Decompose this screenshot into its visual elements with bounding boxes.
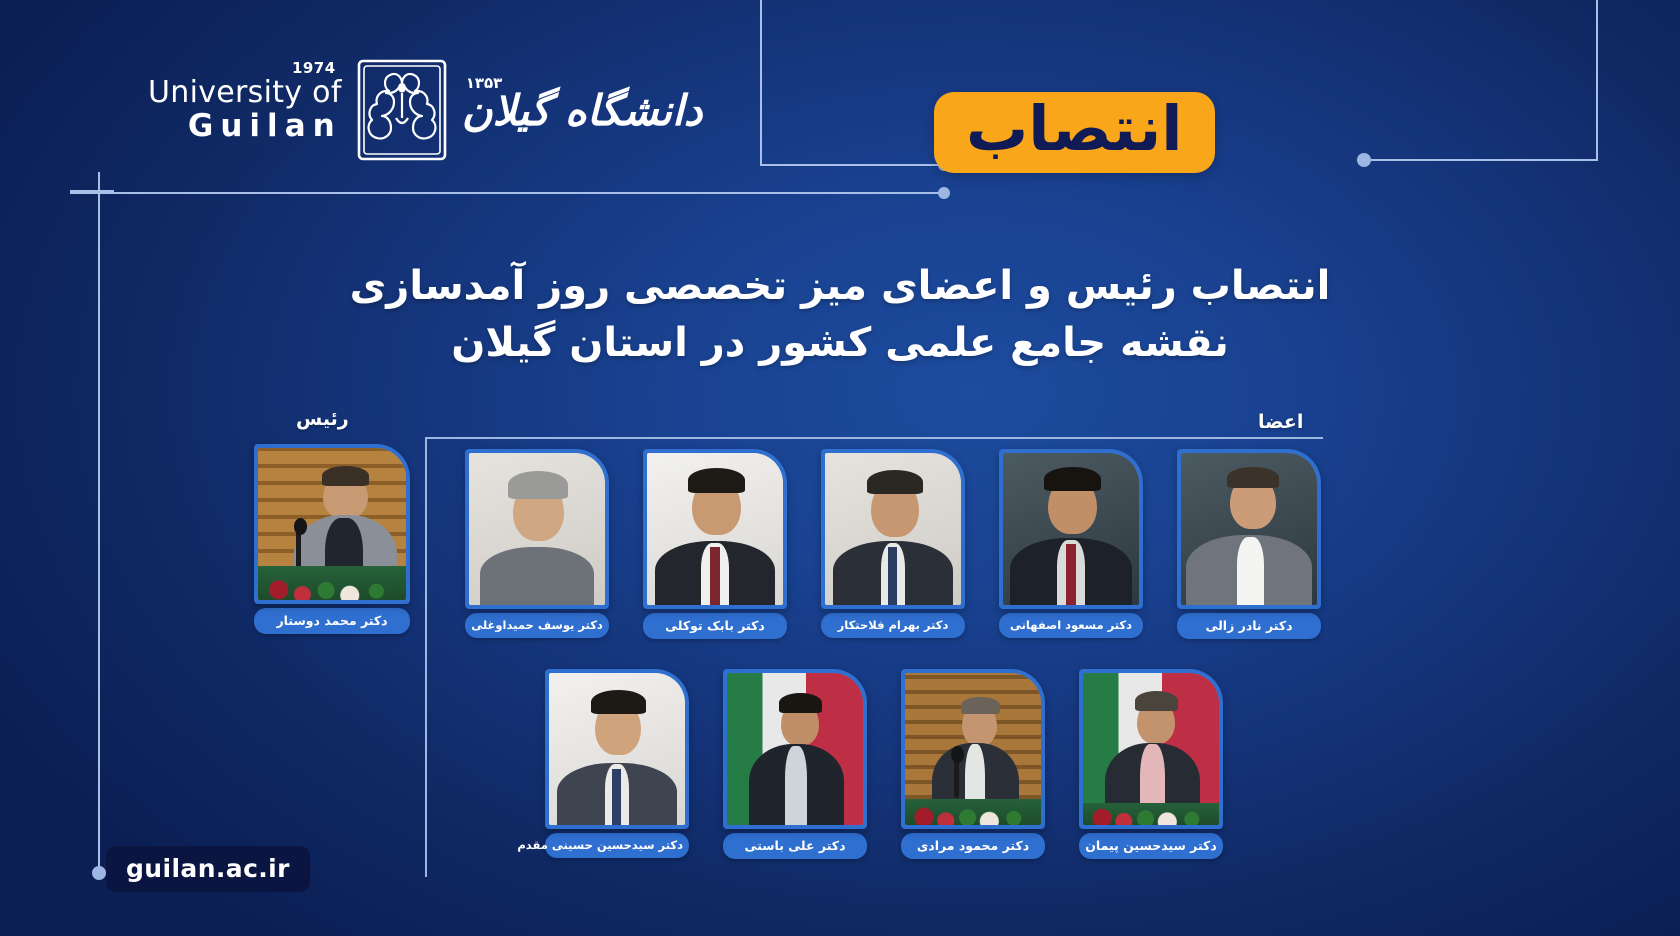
member-name: دکتر بابک توکلی	[643, 613, 787, 639]
member-photo-frame	[465, 449, 609, 609]
member-name: دکتر بهرام فلاحتکار	[821, 613, 965, 638]
decor-line-left-horizontal	[70, 190, 114, 192]
member-photo-frame	[545, 669, 689, 829]
logo-name-fa: دانشگاه گیلان	[462, 86, 703, 135]
page-title-line-2: نقشه جامع علمی کشور در استان گیلان	[0, 315, 1680, 372]
member-photo-frame	[901, 669, 1045, 829]
member-card[interactable]: دکتر بابک توکلی	[643, 449, 787, 639]
appointment-banner-label: انتصاب	[966, 96, 1183, 161]
decor-line-top-horizontal-1	[760, 164, 946, 166]
section-label-members: اعضا	[1258, 411, 1303, 433]
member-photo-frame	[1079, 669, 1223, 829]
decor-dot-bottom-left	[92, 866, 106, 880]
appointment-poster: 1974 University of Guilan ۱۳۵۳ دانشگاه گ…	[0, 0, 1680, 936]
member-photo	[1083, 673, 1219, 825]
decor-line-top-horizontal-2	[70, 192, 946, 194]
member-photo	[825, 453, 961, 605]
member-name: دکتر محمود مرادی	[901, 833, 1045, 859]
decor-dot-top-right	[1357, 153, 1371, 167]
member-name: دکتر سیدحسین پیمان	[1079, 833, 1223, 859]
chair-card[interactable]: دکتر محمد دوستار	[254, 444, 410, 634]
page-title-line-1: انتصاب رئیس و اعضای میز تخصصی روز آمدساز…	[0, 258, 1680, 315]
website-badge[interactable]: guilan.ac.ir	[106, 846, 310, 892]
appointment-banner: انتصاب	[934, 92, 1215, 173]
member-name: دکتر یوسف حمیداوغلی	[465, 613, 609, 638]
members-bracket-horizontal	[425, 437, 1323, 439]
chair-photo-frame	[254, 444, 410, 604]
member-photo	[469, 453, 605, 605]
member-photo	[1181, 453, 1317, 605]
member-photo-frame	[723, 669, 867, 829]
member-photo	[647, 453, 783, 605]
members-bracket-vertical	[425, 437, 427, 877]
member-name: دکتر مسعود اصفهانی	[999, 613, 1143, 638]
member-card[interactable]: دکتر نادر زالی	[1177, 449, 1321, 639]
member-photo	[1003, 453, 1139, 605]
chair-photo	[258, 448, 406, 600]
member-card[interactable]: دکتر علی باستی	[723, 669, 867, 859]
logo-year-fa: ۱۳۵۳	[466, 74, 503, 92]
member-photo-frame	[821, 449, 965, 609]
member-photo-frame	[999, 449, 1143, 609]
logo-year-en: 1974	[292, 61, 336, 76]
member-name: دکتر سیدحسین حسینی مقدم	[545, 833, 689, 858]
logo-persian-text: ۱۳۵۳ دانشگاه گیلان	[462, 86, 703, 135]
member-photo	[727, 673, 863, 825]
decor-line-right-vertical	[1596, 0, 1598, 160]
logo-english-text: 1974 University of Guilan	[148, 78, 342, 142]
logo-name-en-line1: University of	[148, 78, 342, 108]
chair-name: دکتر محمد دوستار	[254, 608, 410, 634]
decor-dot-top-2	[938, 187, 950, 199]
member-name: دکتر علی باستی	[723, 833, 867, 859]
member-card[interactable]: دکتر محمود مرادی	[901, 669, 1045, 859]
university-logo: 1974 University of Guilan ۱۳۵۳ دانشگاه گ…	[148, 58, 702, 162]
decor-line-right-horizontal	[1365, 159, 1598, 161]
member-photo	[549, 673, 685, 825]
member-card[interactable]: دکتر یوسف حمیداوغلی	[465, 449, 609, 638]
member-photo-frame	[1177, 449, 1321, 609]
logo-name-en-line2: Guilan	[148, 111, 342, 142]
member-photo-frame	[643, 449, 787, 609]
member-card[interactable]: دکتر بهرام فلاحتکار	[821, 449, 965, 638]
member-name: دکتر نادر زالی	[1177, 613, 1321, 639]
member-photo	[905, 673, 1041, 825]
page-title: انتصاب رئیس و اعضای میز تخصصی روز آمدساز…	[0, 258, 1680, 372]
member-card[interactable]: دکتر سیدحسین پیمان	[1079, 669, 1223, 859]
member-card[interactable]: دکتر سیدحسین حسینی مقدم	[545, 669, 689, 858]
decor-line-top-vertical	[760, 0, 762, 166]
member-card[interactable]: دکتر مسعود اصفهانی	[999, 449, 1143, 638]
section-label-chair: رئیس	[296, 408, 349, 430]
guilan-university-emblem-icon	[356, 58, 448, 162]
